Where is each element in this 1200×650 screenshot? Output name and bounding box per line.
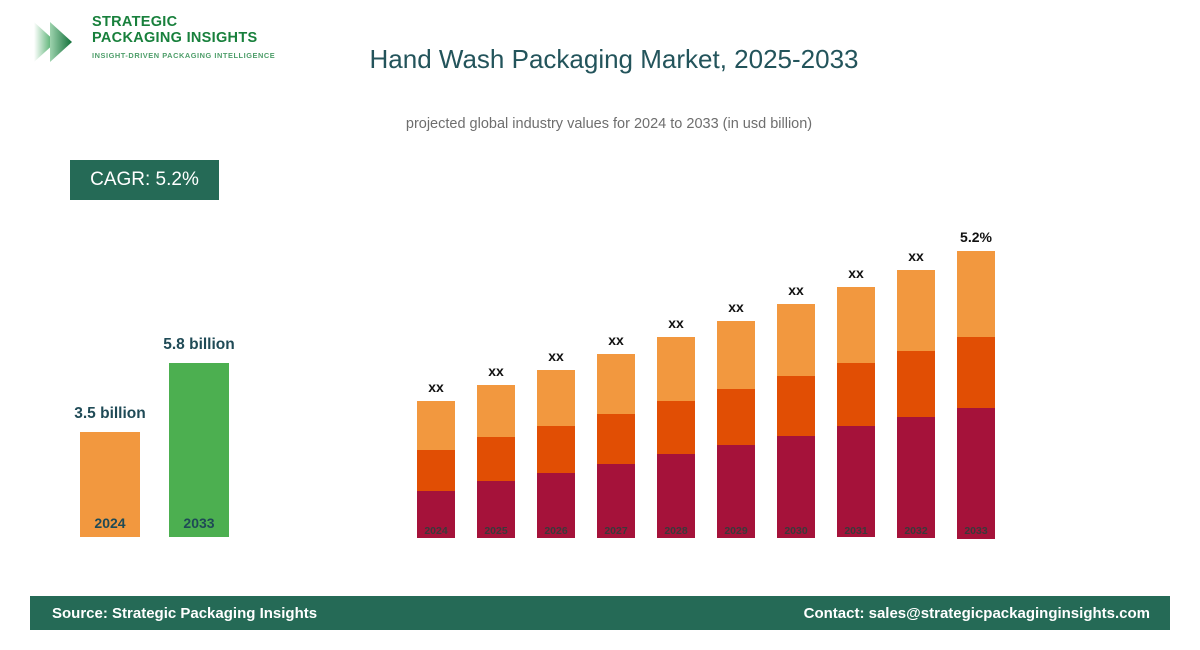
stacked-bar-segment [897, 270, 935, 351]
stacked-bar-segment [597, 414, 635, 464]
stacked-bar: xx2025 [477, 385, 515, 538]
stacked-bar-segment [717, 321, 755, 389]
stacked-bar-segment [777, 436, 815, 538]
comparison-bar: 5.8 billion2033 [169, 363, 229, 537]
stacked-bar-segment [957, 408, 995, 539]
cagr-badge-label: CAGR: 5.2% [90, 169, 199, 191]
stacked-bar-value: 5.2% [941, 229, 1011, 245]
comparison-bar-value: 5.8 billion [119, 336, 279, 354]
comparison-bar: 3.5 billion2024 [80, 432, 140, 537]
stacked-bar-segment [957, 251, 995, 337]
stacked-bar-segment [957, 337, 995, 408]
stacked-bar: xx2029 [717, 321, 755, 538]
brand-logo-line1: STRATEGIC [92, 14, 275, 30]
stacked-bar-value: xx [581, 332, 651, 348]
stacked-bar: xx2032 [897, 270, 935, 538]
stacked-bar-segment [657, 337, 695, 401]
stacked-bar-segment [897, 351, 935, 417]
stacked-bar: 5.2%2033 [957, 251, 995, 538]
stacked-bar: xx2031 [837, 287, 875, 538]
stacked-bar-segment [417, 401, 455, 450]
stacked-bar: xx2024 [417, 401, 455, 538]
stacked-bar-segment [837, 426, 875, 537]
stacked-bar-segment [717, 389, 755, 445]
stacked-bar-segment [777, 376, 815, 436]
comparison-bar-year: 2033 [139, 515, 259, 531]
stacked-bar-segment [837, 287, 875, 363]
cagr-badge: CAGR: 5.2% [70, 160, 219, 200]
stacked-bar: xx2030 [777, 304, 815, 538]
page-title: Hand Wash Packaging Market, 2025-2033 [0, 44, 1200, 75]
stacked-bar-segment [417, 450, 455, 491]
stacked-bar-value: xx [701, 299, 771, 315]
stacked-bar-segment [477, 437, 515, 481]
stacked-bar-segment [897, 417, 935, 538]
comparison-bar-fill [169, 363, 229, 537]
stacked-bar: xx2026 [537, 370, 575, 538]
footer-bar: Source: Strategic Packaging Insights Con… [30, 596, 1170, 630]
endpoint-comparison-chart: 3.5 billion20245.8 billion2033 [40, 300, 300, 570]
stacked-bar-segment [657, 401, 695, 454]
stacked-bar-segment [537, 426, 575, 473]
stacked-bar-value: xx [881, 248, 951, 264]
stacked-bar-value: xx [761, 282, 831, 298]
stacked-bar-value: xx [521, 348, 591, 364]
stacked-bar-segment [837, 363, 875, 426]
footer-source: Source: Strategic Packaging Insights [52, 605, 317, 622]
stacked-bar-segment [477, 385, 515, 437]
stacked-bar-value: xx [401, 379, 471, 395]
stacked-bar: xx2028 [657, 337, 695, 538]
segment-forecast-chart: xx2024xx2025xx2026xx2027xx2028xx2029xx20… [404, 205, 1024, 560]
infographic-canvas: STRATEGIC PACKAGING INSIGHTS INSIGHT-DRI… [0, 0, 1200, 650]
footer-contact: Contact: sales@strategicpackaginginsight… [804, 605, 1150, 622]
stacked-bar-value: xx [641, 315, 711, 331]
stacked-bar-value: xx [821, 265, 891, 281]
stacked-bar: xx2027 [597, 354, 635, 538]
stacked-bar-year: 2033 [941, 525, 1011, 537]
stacked-bar-segment [777, 304, 815, 376]
stacked-bar-value: xx [461, 363, 531, 379]
page-subtitle: projected global industry values for 202… [0, 116, 1200, 132]
stacked-bar-segment [597, 354, 635, 414]
comparison-bar-value: 3.5 billion [30, 405, 190, 423]
stacked-bar-segment [537, 370, 575, 426]
